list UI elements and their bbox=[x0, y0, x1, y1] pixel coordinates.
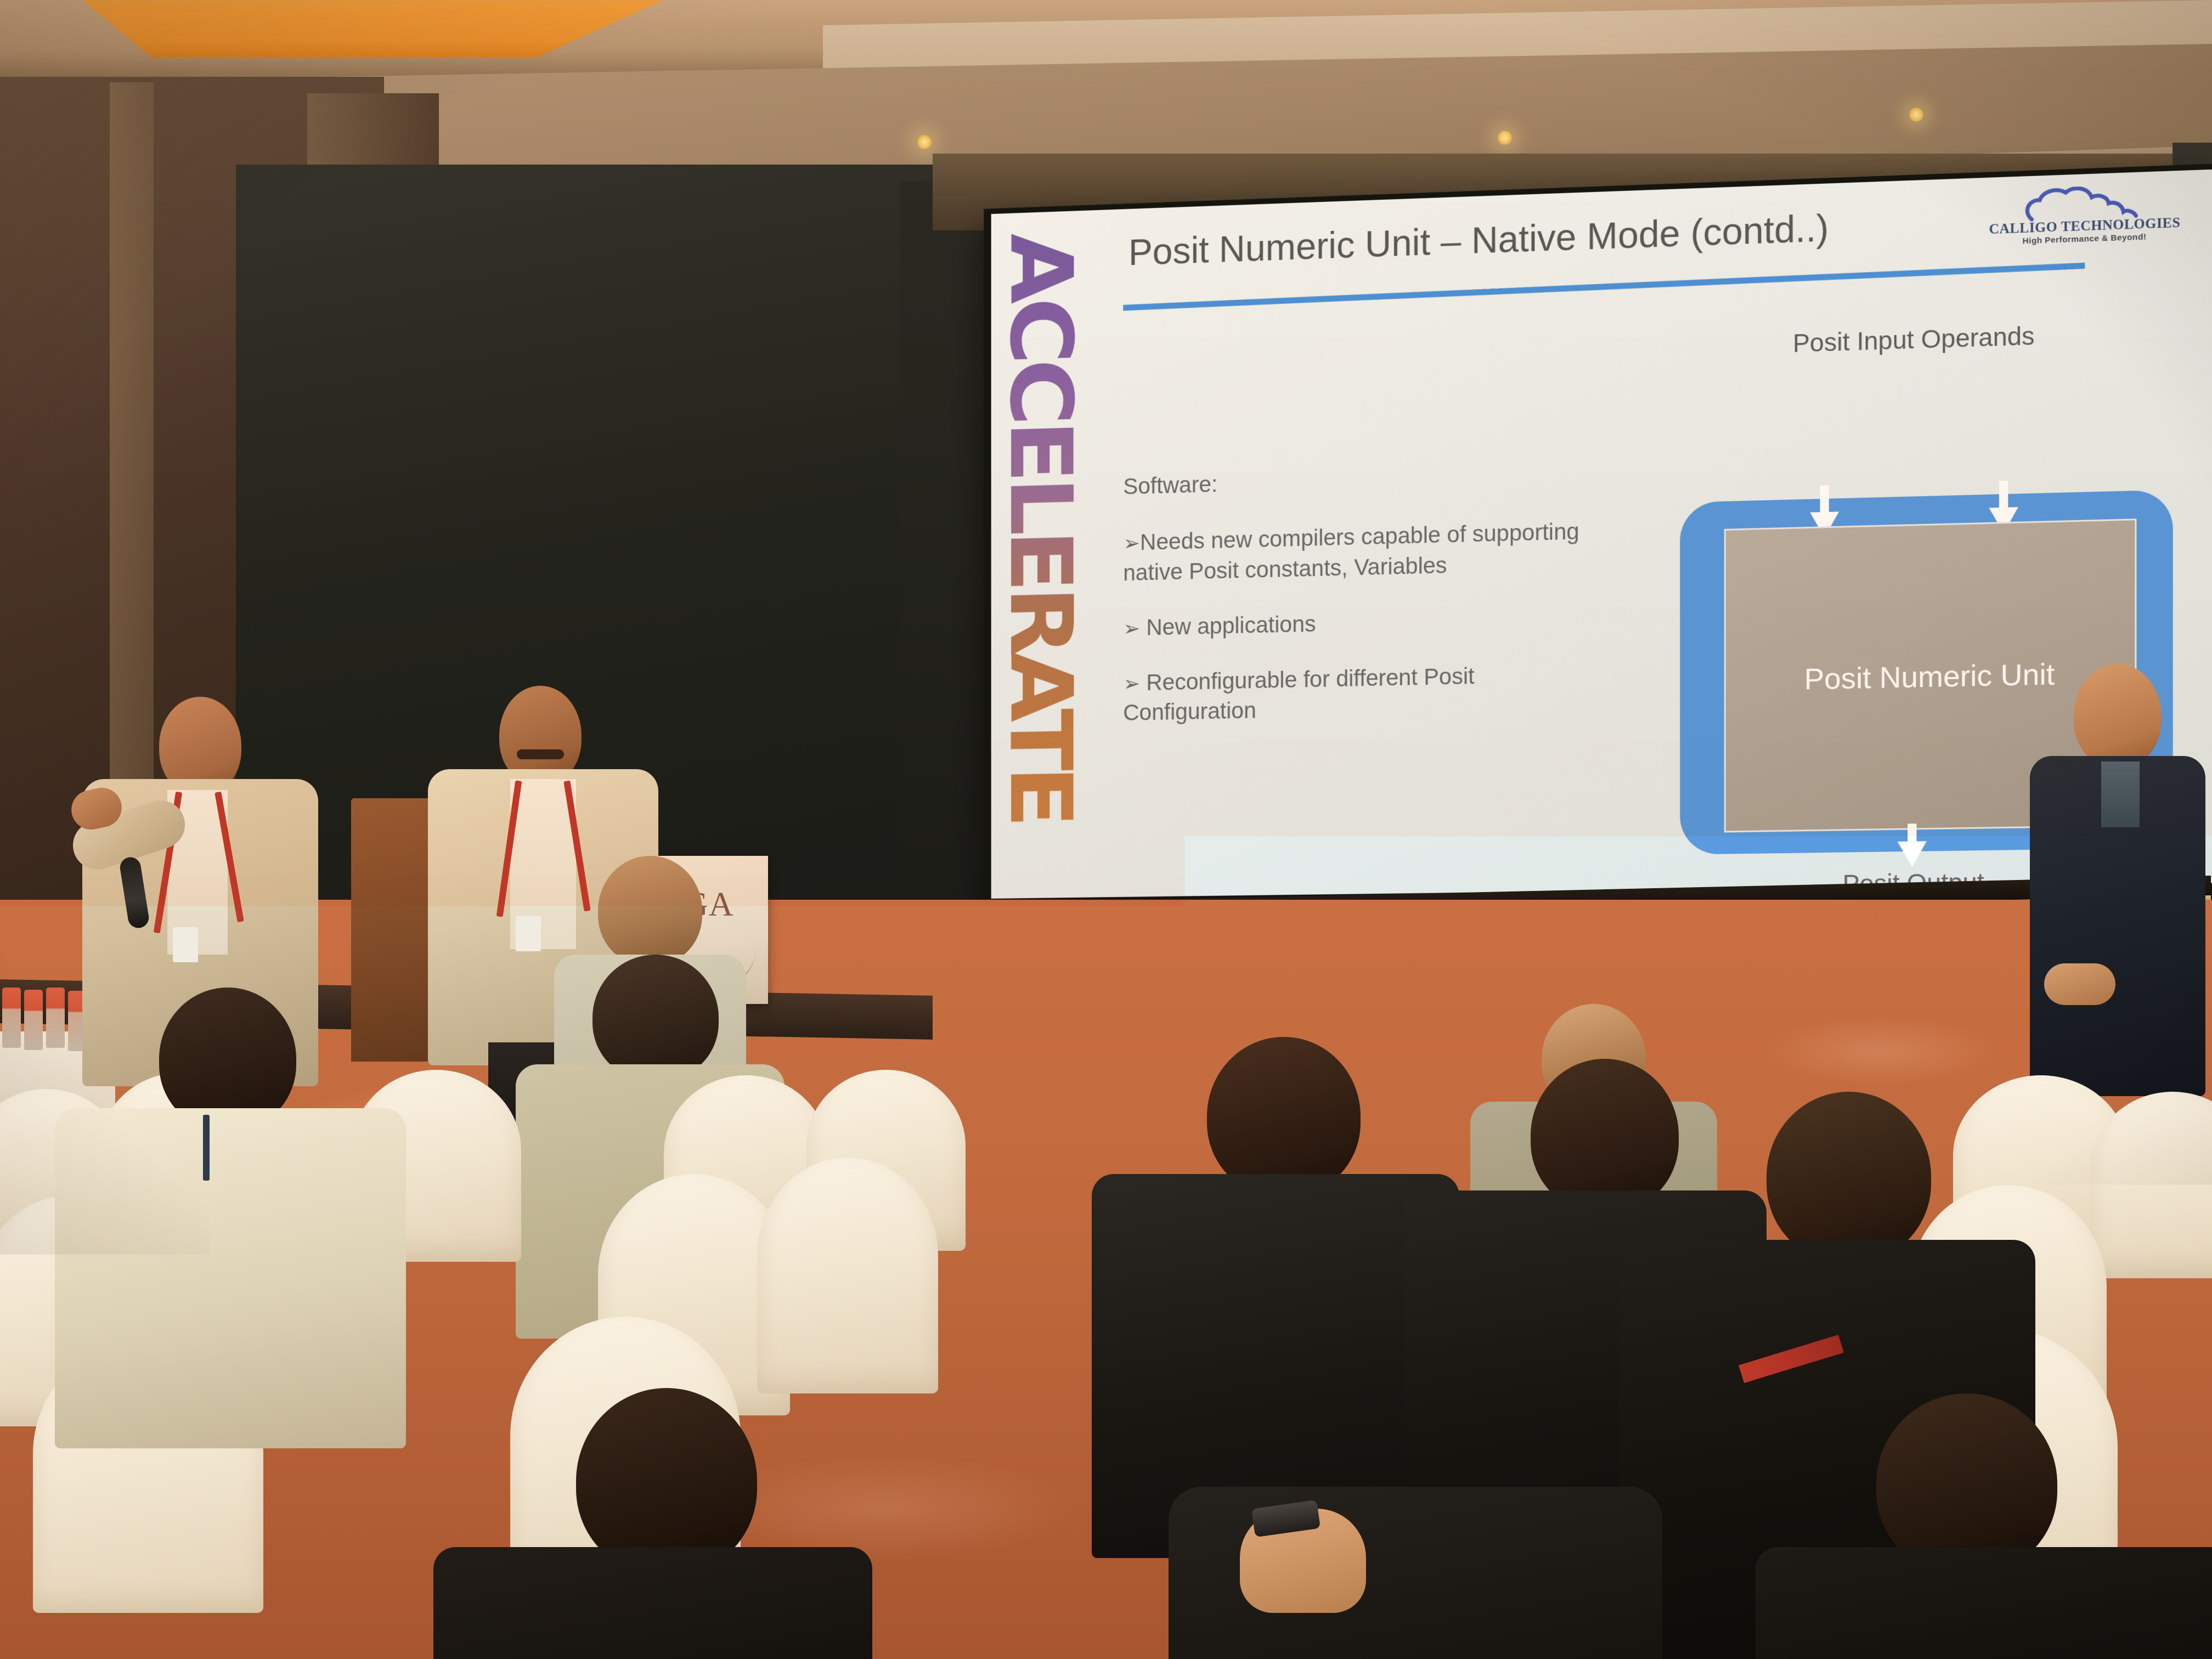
slide-bullet-text: New applications bbox=[1146, 611, 1316, 640]
bullet-arrow-icon: ➢ bbox=[1123, 616, 1140, 640]
slide-sidebar-word: ACCELERATE bbox=[1001, 231, 1080, 854]
presenter-right bbox=[2024, 664, 2211, 1114]
chair bbox=[757, 1158, 938, 1393]
audience-torso bbox=[55, 1108, 406, 1448]
chair bbox=[2090, 1092, 2212, 1278]
presenter-right-head bbox=[2074, 664, 2162, 768]
presenter-right-shirt bbox=[2101, 761, 2140, 827]
company-logo: CALLIGO TECHNOLOGIES High Performance & … bbox=[1972, 182, 2198, 257]
output-arrow-head bbox=[1898, 841, 1927, 867]
slide-bullet: ➢ Reconfigurable for different Posit Con… bbox=[1123, 658, 1609, 728]
audience-lanyard bbox=[203, 1115, 210, 1181]
audience-head bbox=[592, 955, 719, 1081]
slide-title: Posit Numeric Unit – Native Mode (contd.… bbox=[1128, 207, 1829, 274]
downlight-icon bbox=[1498, 131, 1512, 145]
downlight-icon bbox=[917, 135, 932, 149]
presenter-right-hands bbox=[2044, 963, 2115, 1005]
slide-title-rule bbox=[1123, 263, 2085, 311]
slide-bullet: ➢Needs new compilers capable of supporti… bbox=[1123, 515, 1609, 588]
water-bottle bbox=[24, 990, 43, 1050]
diagram-block-label: Posit Numeric Unit bbox=[1804, 657, 2055, 696]
audience-torso bbox=[1756, 1547, 2212, 1659]
audience-head bbox=[576, 1388, 757, 1575]
audience-member bbox=[450, 1388, 856, 1659]
audience-head bbox=[598, 856, 702, 966]
slide-bullet-text: Needs new compilers capable of supportin… bbox=[1123, 518, 1579, 585]
bullet-arrow-icon: ➢ bbox=[1123, 672, 1140, 696]
audience-torso bbox=[433, 1547, 872, 1659]
audience-head bbox=[1207, 1037, 1361, 1196]
conference-photo: ACCELERATE Posit Numeric Unit – Native M… bbox=[0, 0, 2212, 1659]
audience-member bbox=[1778, 1393, 2212, 1659]
downlight-icon bbox=[1909, 108, 1923, 122]
bullet-arrow-icon: ➢ bbox=[1123, 531, 1140, 555]
slide-bullet: ➢ New applications bbox=[1123, 602, 1609, 643]
diagram-input-label: Posit Input Operands bbox=[1741, 319, 2088, 360]
audience-head bbox=[1767, 1092, 1931, 1262]
presenter-center-badge bbox=[516, 916, 541, 951]
water-bottle bbox=[46, 988, 65, 1048]
presenter-left-badge bbox=[173, 927, 198, 962]
slide-bullet-text: Reconfigurable for different Posit Confi… bbox=[1123, 663, 1474, 725]
slide-body-lead: Software: bbox=[1123, 460, 1609, 499]
presenter-center-moustache bbox=[517, 749, 564, 759]
water-bottle bbox=[2, 988, 21, 1048]
audience-member bbox=[66, 988, 395, 1481]
slide-body: Software: ➢Needs new compilers capable o… bbox=[1123, 460, 1609, 753]
audience-member bbox=[1169, 1454, 1662, 1659]
